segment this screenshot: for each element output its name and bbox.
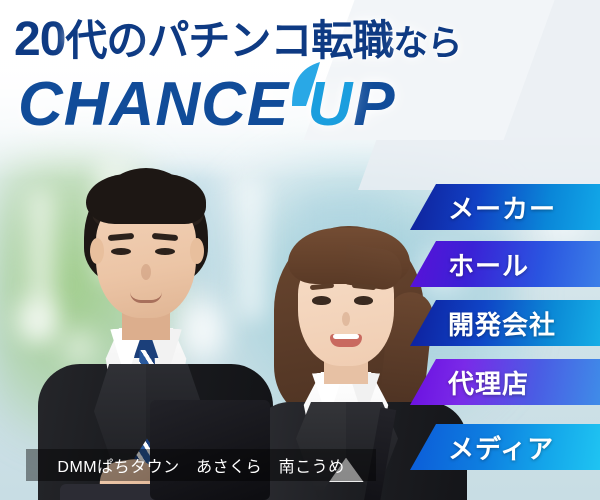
banner-ad[interactable]: 20代のパチンコ転職なら CHANCE UP 未経験でも チャンスあり! メーカ… — [0, 0, 600, 500]
category-button-hall[interactable]: ホール — [410, 241, 600, 287]
headline-main: パチンコ転職 — [147, 17, 393, 64]
category-button-media[interactable]: メディア — [410, 424, 600, 470]
caption-text: DMMぱちタウン あさくら 南こうめ — [57, 453, 344, 477]
category-button-developer[interactable]: 開発会社 — [410, 300, 600, 346]
caption-bar: DMMぱちタウン あさくら 南こうめ — [26, 449, 376, 481]
category-button-label: ホール — [448, 246, 529, 283]
headline-number: 20 — [14, 13, 65, 66]
category-button-agency[interactable]: 代理店 — [410, 359, 600, 405]
category-button-label: メディア — [448, 429, 554, 466]
category-button-label: メーカー — [448, 189, 556, 226]
logo-letter-u: U — [307, 74, 353, 136]
category-button-label: 代理店 — [448, 364, 529, 401]
headline: 20代のパチンコ転職なら — [14, 16, 461, 64]
category-button-label: 開発会社 — [448, 305, 556, 342]
headline-tail: なら — [393, 24, 461, 63]
logo-chance-up: CHANCE UP — [18, 74, 396, 136]
logo-letter-p: P — [353, 70, 395, 139]
logo-text-chance: CHANCE — [18, 70, 307, 139]
category-button-maker[interactable]: メーカー — [410, 184, 600, 230]
headline-dai: 代の — [65, 17, 147, 64]
